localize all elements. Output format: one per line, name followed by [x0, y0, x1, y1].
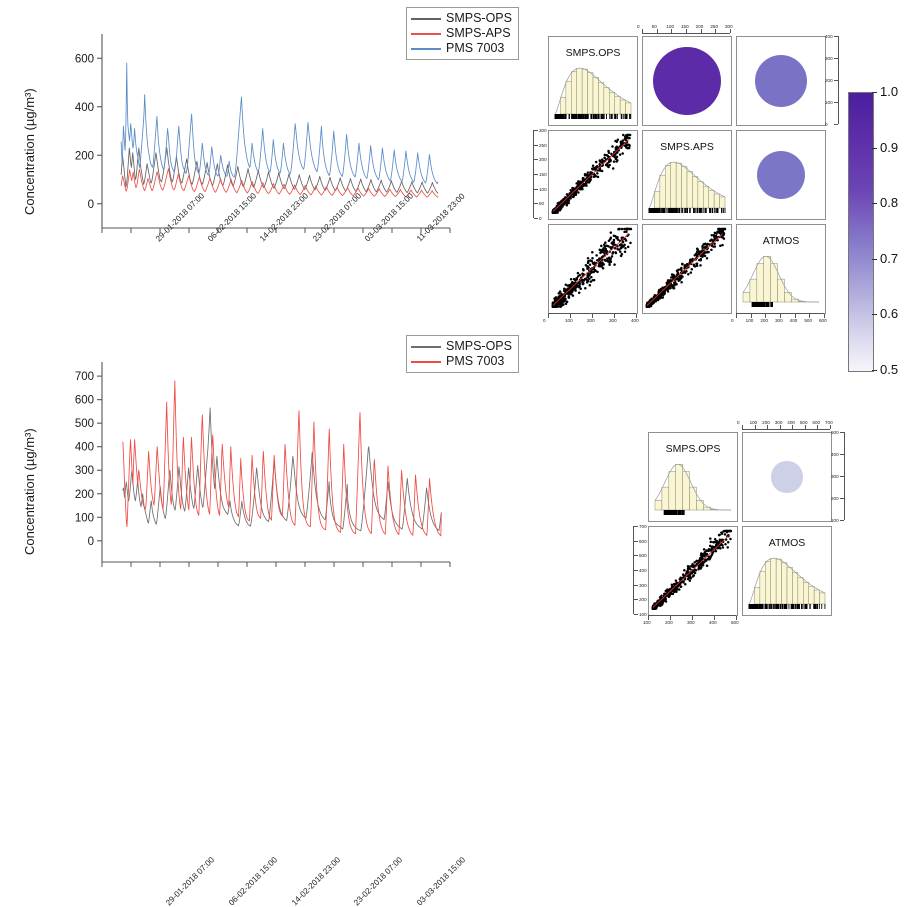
correlation-circle	[755, 55, 807, 107]
svg-text:200: 200	[75, 489, 94, 501]
axis-tick-label: 200	[831, 496, 839, 501]
axis-tick-label: 0	[737, 420, 740, 425]
svg-text:400: 400	[75, 102, 94, 114]
colorbar-tick-label: 0.8	[880, 195, 898, 210]
axis-tick-label: 500	[804, 318, 812, 323]
axis-tick-label: 200	[696, 24, 704, 29]
axis-ticks: 050100150200250300	[533, 130, 547, 218]
colorbar-tick-label: 0.9	[880, 140, 898, 155]
timeseries-bottom-legend: SMPS-OPS PMS 7003	[406, 335, 519, 373]
axis-tick-label: 0	[825, 122, 828, 127]
colorbar-tick	[872, 370, 877, 371]
axis-tick-label: 200	[639, 597, 647, 602]
axis-tick-label: 200	[665, 620, 673, 625]
spm-variable-label: SMPS.OPS	[649, 443, 737, 455]
axis-tick-label: 300	[639, 583, 647, 588]
axis-tick-label: 150	[539, 172, 547, 177]
axis-tick-label: 700	[825, 420, 833, 425]
xtick-label: 06-02-2018 15:00	[227, 855, 279, 907]
colorbar-tick-label: 0.7	[880, 251, 898, 266]
xtick-label: 23-02-2018 07:00	[352, 855, 404, 907]
spm-variable-label: ATMOS	[743, 537, 831, 549]
spm-correlation-circle-cell	[742, 432, 832, 522]
spm-scatter-cell	[548, 130, 638, 220]
timeseries-bottom-plot: 0100200300400500600700	[58, 358, 458, 618]
colorbar-tick	[872, 314, 877, 315]
axis-tick-label: 500	[731, 620, 739, 625]
axis-tick-label: 100	[643, 620, 651, 625]
axis-tick-label: 100	[831, 518, 839, 523]
legend-label: SMPS-OPS	[446, 12, 512, 25]
legend-item: SMPS-OPS	[411, 11, 512, 26]
spm-scatter-cell	[648, 526, 738, 616]
axis-ticks: 0100200300400500600700	[742, 420, 830, 430]
spm-diagonal-cell-atmos: ATMOS	[736, 224, 826, 314]
scatter-matrix-2x2-panel: SMPS.OPSATMOS010020030040050060070010020…	[648, 432, 846, 624]
legend-item: PMS 7003	[411, 41, 512, 56]
axis-tick-label: 200	[760, 318, 768, 323]
svg-text:600: 600	[75, 395, 94, 407]
axis-tick-label: 100	[746, 318, 754, 323]
legend-swatch-smps-aps	[411, 33, 441, 35]
colorbar-tick	[872, 148, 877, 149]
axis-ticks: 0100200300400	[825, 36, 839, 124]
timeseries-top-panel: Concentration (µg/m³) 0200400600 29-01-2…	[0, 0, 520, 330]
axis-tick-label: 300	[539, 128, 547, 133]
colorbar-tick-label: 0.6	[880, 306, 898, 321]
axis-tick-label: 100	[639, 612, 647, 617]
axis-tick-label: 200	[825, 78, 833, 83]
spm-diagonal-cell-smps-ops: SMPS.OPS	[648, 432, 738, 522]
legend-swatch-pms-7003	[411, 48, 441, 50]
axis-tick-label: 400	[825, 34, 833, 39]
axis-ticks: 100200300400500	[831, 432, 845, 520]
axis-tick-label: 50	[652, 24, 657, 29]
spm-diagonal-cell-atmos: ATMOS	[742, 526, 832, 616]
axis-ticks: 100200300400500600700	[633, 526, 647, 614]
axis-tick-label: 400	[790, 318, 798, 323]
timeseries-top-legend: SMPS-OPS SMPS-APS PMS 7003	[406, 7, 519, 60]
svg-text:300: 300	[75, 465, 94, 477]
colorbar-tick	[872, 259, 877, 260]
axis-ticks: 100200300400500	[648, 615, 736, 625]
spm-variable-label: ATMOS	[737, 235, 825, 247]
axis-tick-label: 200	[539, 157, 547, 162]
spm-scatter-cell	[548, 224, 638, 314]
axis-ticks: 0100200300400	[548, 313, 636, 323]
axis-tick-label: 500	[831, 430, 839, 435]
timeseries-bottom-ylabel: Concentration (µg/m³)	[22, 428, 37, 555]
axis-ticks: 0100200300400500600	[736, 313, 824, 323]
timeseries-top-plot: 0200400600	[58, 30, 458, 280]
svg-text:100: 100	[75, 512, 94, 524]
axis-tick-label: 400	[709, 620, 717, 625]
spm-correlation-circle-cell	[736, 36, 826, 126]
correlation-colorbar-panel: 1.00.90.80.70.60.5	[848, 92, 912, 382]
legend-item: PMS 7003	[411, 354, 512, 369]
legend-label: SMPS-OPS	[446, 340, 512, 353]
axis-tick-label: 50	[539, 201, 544, 206]
legend-swatch-smps-ops	[411, 18, 441, 20]
legend-item: SMPS-APS	[411, 26, 512, 41]
axis-tick-label: 0	[731, 318, 734, 323]
axis-tick-label: 300	[687, 620, 695, 625]
spm-correlation-circle-cell	[736, 130, 826, 220]
scatter-matrix-3x3-panel: SMPS.OPSSMPS.APSATMOS0501001502002503000…	[548, 36, 838, 321]
axis-tick-label: 300	[609, 318, 617, 323]
svg-text:500: 500	[75, 418, 94, 430]
legend-item: SMPS-OPS	[411, 339, 512, 354]
svg-text:600: 600	[75, 53, 94, 65]
axis-tick-label: 400	[831, 452, 839, 457]
colorbar-tick-label: 1.0	[880, 84, 898, 99]
correlation-circle	[757, 151, 806, 200]
axis-tick-label: 300	[825, 56, 833, 61]
timeseries-top-svg: 0200400600	[58, 30, 458, 280]
axis-tick-label: 0	[539, 216, 542, 221]
correlation-circle	[771, 461, 802, 492]
spm-diagonal-cell-smps-aps: SMPS.APS	[642, 130, 732, 220]
svg-text:0: 0	[88, 199, 94, 211]
legend-label: SMPS-APS	[446, 27, 511, 40]
axis-ticks: 050100150200250300	[642, 24, 730, 34]
colorbar-tick-label: 0.5	[880, 362, 898, 377]
svg-text:0: 0	[88, 536, 94, 548]
axis-tick-label: 100	[565, 318, 573, 323]
axis-tick-label: 150	[681, 24, 689, 29]
axis-tick-label: 100	[539, 187, 547, 192]
axis-tick-label: 250	[539, 143, 547, 148]
axis-tick-label: 0	[637, 24, 640, 29]
axis-tick-label: 500	[800, 420, 808, 425]
axis-tick-label: 400	[787, 420, 795, 425]
spm-variable-label: SMPS.APS	[643, 141, 731, 153]
timeseries-bottom-panel: Concentration (µg/m³) 010020030040050060…	[0, 330, 520, 665]
svg-text:700: 700	[75, 371, 94, 383]
axis-tick-label: 100	[750, 420, 758, 425]
axis-tick-label: 400	[639, 568, 647, 573]
axis-tick-label: 200	[762, 420, 770, 425]
timeseries-bottom-svg: 0100200300400500600700	[58, 358, 458, 618]
axis-tick-label: 600	[812, 420, 820, 425]
colorbar-tick	[872, 92, 877, 93]
axis-tick-label: 400	[631, 318, 639, 323]
timeseries-top-ylabel: Concentration (µg/m³)	[22, 88, 37, 215]
legend-label: PMS 7003	[446, 42, 504, 55]
legend-swatch-smps-ops	[411, 346, 441, 348]
spm-diagonal-cell-smps-ops: SMPS.OPS	[548, 36, 638, 126]
xtick-label: 14-02-2018 23:00	[290, 855, 342, 907]
axis-tick-label: 700	[639, 524, 647, 529]
colorbar-gradient	[848, 92, 874, 372]
legend-label: PMS 7003	[446, 355, 504, 368]
axis-tick-label: 300	[775, 318, 783, 323]
spm-correlation-circle-cell	[642, 36, 732, 126]
legend-swatch-pms-7003	[411, 361, 441, 363]
axis-tick-label: 300	[831, 474, 839, 479]
axis-tick-label: 300	[775, 420, 783, 425]
colorbar-tick	[872, 203, 877, 204]
axis-tick-label: 500	[639, 553, 647, 558]
axis-tick-label: 0	[543, 318, 546, 323]
spm-variable-label: SMPS.OPS	[549, 47, 637, 59]
correlation-circle	[653, 47, 722, 116]
svg-text:400: 400	[75, 442, 94, 454]
axis-tick-label: 100	[825, 100, 833, 105]
spm-scatter-cell	[642, 224, 732, 314]
axis-tick-label: 300	[725, 24, 733, 29]
xtick-label: 29-01-2018 07:00	[164, 855, 216, 907]
xtick-label: 03-03-2018 15:00	[415, 855, 467, 907]
svg-text:200: 200	[75, 150, 94, 162]
axis-tick-label: 250	[710, 24, 718, 29]
axis-tick-label: 600	[819, 318, 827, 323]
axis-tick-label: 200	[587, 318, 595, 323]
axis-tick-label: 100	[666, 24, 674, 29]
axis-tick-label: 600	[639, 539, 647, 544]
